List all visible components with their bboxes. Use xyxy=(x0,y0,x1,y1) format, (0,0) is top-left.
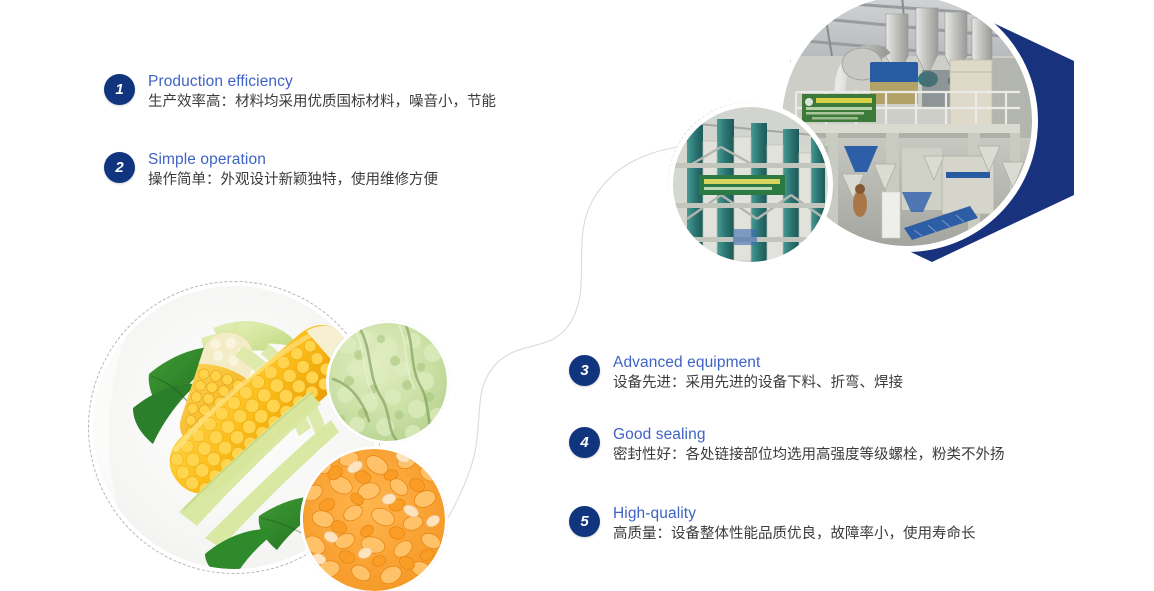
feature-heading-2: Simple operation xyxy=(148,150,438,169)
corn-meal-photo xyxy=(329,323,447,441)
green-machinery-photo xyxy=(673,107,828,262)
feature-body-1: 生产效率高：材料均采用优质国标材料，噪音小，节能 xyxy=(148,92,496,113)
feature-body-3: 设备先进：采用先进的设备下料、折弯、焊接 xyxy=(613,373,903,394)
feature-badge-5: 5 xyxy=(569,506,600,537)
feature-item-4[interactable]: 4 Good sealing 密封性好：各处链接部位均选用高强度等级螺栓，粉类不… xyxy=(569,427,1005,466)
feature-badge-1: 1 xyxy=(104,74,135,105)
feature-text-2: Simple operation 操作简单：外观设计新颖独特，使用维修方便 xyxy=(148,150,438,191)
feature-body-5: 高质量：设备整体性能品质优良，故障率小，使用寿命长 xyxy=(613,524,976,545)
feature-body-2: 操作简单：外观设计新颖独特，使用维修方便 xyxy=(148,170,438,191)
corn-grits-photo xyxy=(303,449,445,591)
corn-photo-cluster xyxy=(85,278,475,591)
machine-photo-cluster xyxy=(660,0,1154,270)
feature-badge-3: 3 xyxy=(569,355,600,386)
feature-item-1[interactable]: 1 Production efficiency 生产效率高：材料均采用优质国标材… xyxy=(104,74,496,113)
feature-badge-4: 4 xyxy=(569,427,600,458)
feature-text-5: High-quality 高质量：设备整体性能品质优良，故障率小，使用寿命长 xyxy=(613,504,976,545)
feature-heading-4: Good sealing xyxy=(613,425,1005,444)
feature-text-4: Good sealing 密封性好：各处链接部位均选用高强度等级螺栓，粉类不外扬 xyxy=(613,425,1005,466)
feature-text-1: Production efficiency 生产效率高：材料均采用优质国标材料，… xyxy=(148,72,496,113)
feature-text-3: Advanced equipment 设备先进：采用先进的设备下料、折弯、焊接 xyxy=(613,353,903,394)
infographic-stage: 1 Production efficiency 生产效率高：材料均采用优质国标材… xyxy=(0,0,1154,591)
feature-item-2[interactable]: 2 Simple operation 操作简单：外观设计新颖独特，使用维修方便 xyxy=(104,152,438,191)
feature-heading-1: Production efficiency xyxy=(148,72,496,91)
feature-badge-2: 2 xyxy=(104,152,135,183)
feature-body-4: 密封性好：各处链接部位均选用高强度等级螺栓，粉类不外扬 xyxy=(613,445,1005,466)
feature-item-3[interactable]: 3 Advanced equipment 设备先进：采用先进的设备下料、折弯、焊… xyxy=(569,355,903,394)
feature-heading-3: Advanced equipment xyxy=(613,353,903,372)
feature-item-5[interactable]: 5 High-quality 高质量：设备整体性能品质优良，故障率小，使用寿命长 xyxy=(569,506,976,545)
feature-heading-5: High-quality xyxy=(613,504,976,523)
